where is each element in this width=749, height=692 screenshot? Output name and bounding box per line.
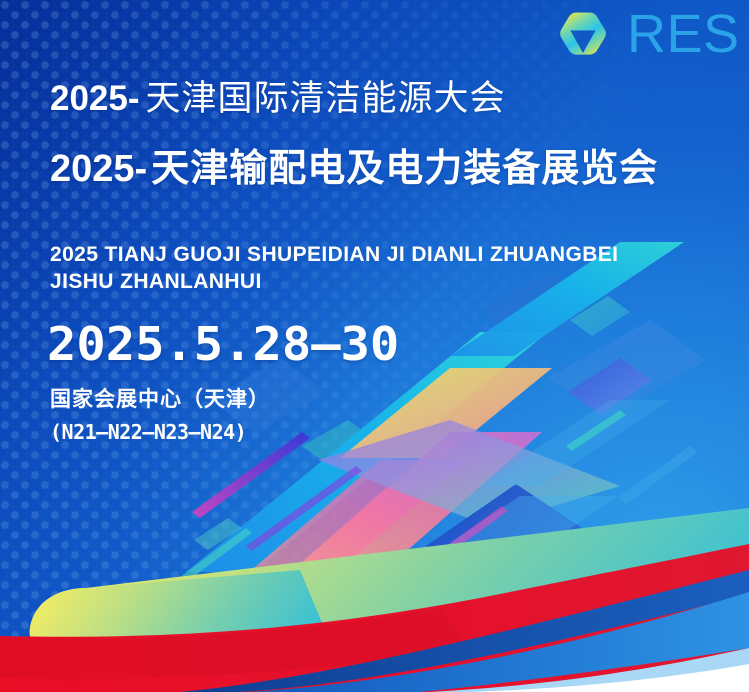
pinyin-line-1: 2025 TIANJ GUOJI SHUPEIDIAN JI DIANLI ZH…	[50, 241, 690, 268]
headline-line-2-title: 天津输配电及电力装备展览会	[151, 148, 658, 190]
pinyin-subtitle: 2025 TIANJ GUOJI SHUPEIDIAN JI DIANLI ZH…	[50, 241, 690, 295]
headline-line-1-title: 天津国际清洁能源大会	[146, 79, 506, 118]
headline-line-2: 2025-天津输配电及电力装备展览会	[50, 146, 658, 192]
headline-line-2-year: 2025-	[50, 148, 147, 190]
headline-line-1-year: 2025-	[50, 79, 140, 118]
bottom-wave-bands	[0, 452, 749, 692]
venue-name: 国家会展中心（天津）	[50, 388, 270, 411]
event-venue: 国家会展中心（天津） (N21—N22—N23—N24)	[50, 384, 270, 448]
event-date: 2025.5.28—30	[47, 316, 399, 372]
pinyin-line-2: JISHU ZHANLANHUI	[50, 268, 690, 295]
headline-line-1: 2025-天津国际清洁能源大会	[50, 78, 506, 120]
poster-canvas: RES 2025-天津国际清洁能源大会 2025-天津输配电及电力装备展览会 2…	[0, 0, 749, 692]
brand-logo[interactable]: RES	[549, 3, 740, 65]
logo-wordmark: RES	[627, 7, 740, 61]
res-hexagon-logo-icon	[549, 3, 617, 65]
venue-halls: (N21—N22—N23—N24)	[50, 417, 270, 448]
